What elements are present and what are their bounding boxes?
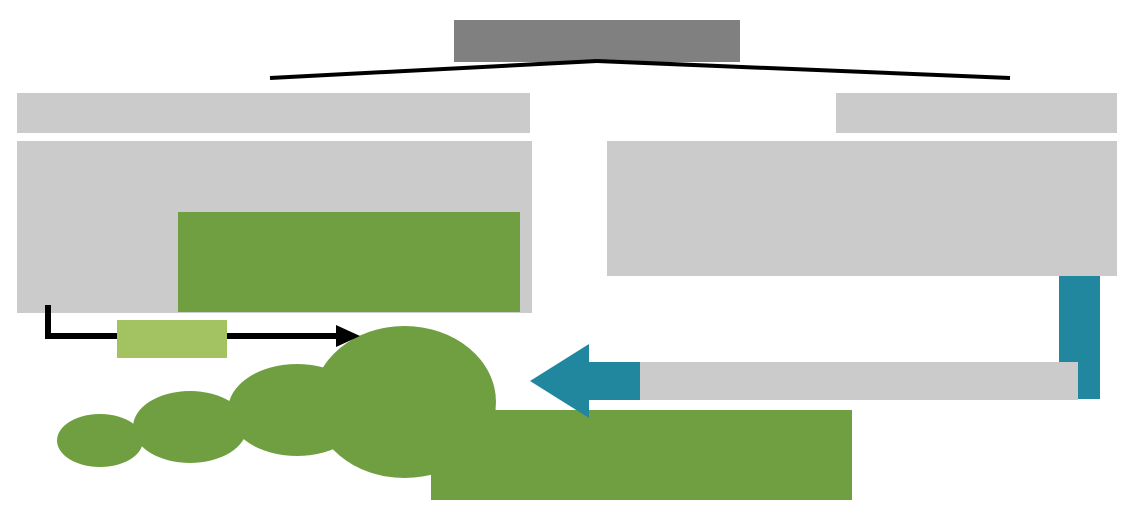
panel-graphical-body [607,141,1117,276]
node-transformation[interactable] [630,362,1078,400]
panel-specifically-built-languages [178,212,520,312]
node-system-lg[interactable] [313,326,496,478]
edge-label-part-of [117,320,227,358]
node-dsl[interactable] [454,20,740,62]
node-system-xs[interactable] [57,414,143,467]
node-graphical-header[interactable] [836,93,1117,133]
panel-implementation [431,410,852,500]
node-textual-header[interactable] [17,93,530,133]
diagram-canvas [0,0,1134,513]
transformation-arrow-icon [530,344,640,418]
panel-textual-body [17,141,532,313]
